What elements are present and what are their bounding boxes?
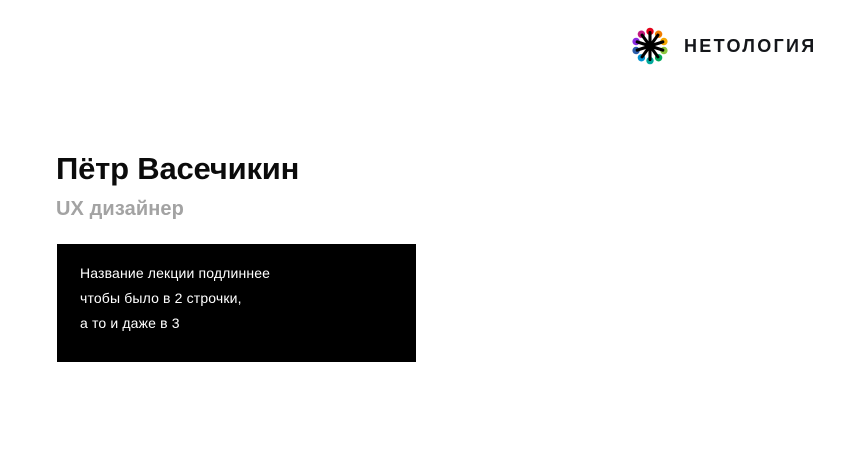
speaker-role: UX дизайнер xyxy=(56,198,656,221)
netology-starburst-logo-icon xyxy=(630,26,670,66)
lecture-title-card: Название лекции подлиннее чтобы было в 2… xyxy=(57,244,416,362)
brand-lockup: НЕТОЛОГИЯ xyxy=(630,26,817,66)
presentation-slide: НЕТОЛОГИЯ Пётр Васечикин UX дизайнер Наз… xyxy=(0,0,846,475)
brand-wordmark: НЕТОЛОГИЯ xyxy=(684,37,817,55)
lecture-title-line-3: а то и даже в 3 xyxy=(80,311,394,336)
lecture-title-line-2: чтобы было в 2 строчки, xyxy=(80,286,394,311)
lecture-title-line-1: Название лекции подлиннее xyxy=(80,261,394,286)
speaker-block: Пётр Васечикин UX дизайнер xyxy=(56,152,656,221)
speaker-name: Пётр Васечикин xyxy=(56,152,656,187)
